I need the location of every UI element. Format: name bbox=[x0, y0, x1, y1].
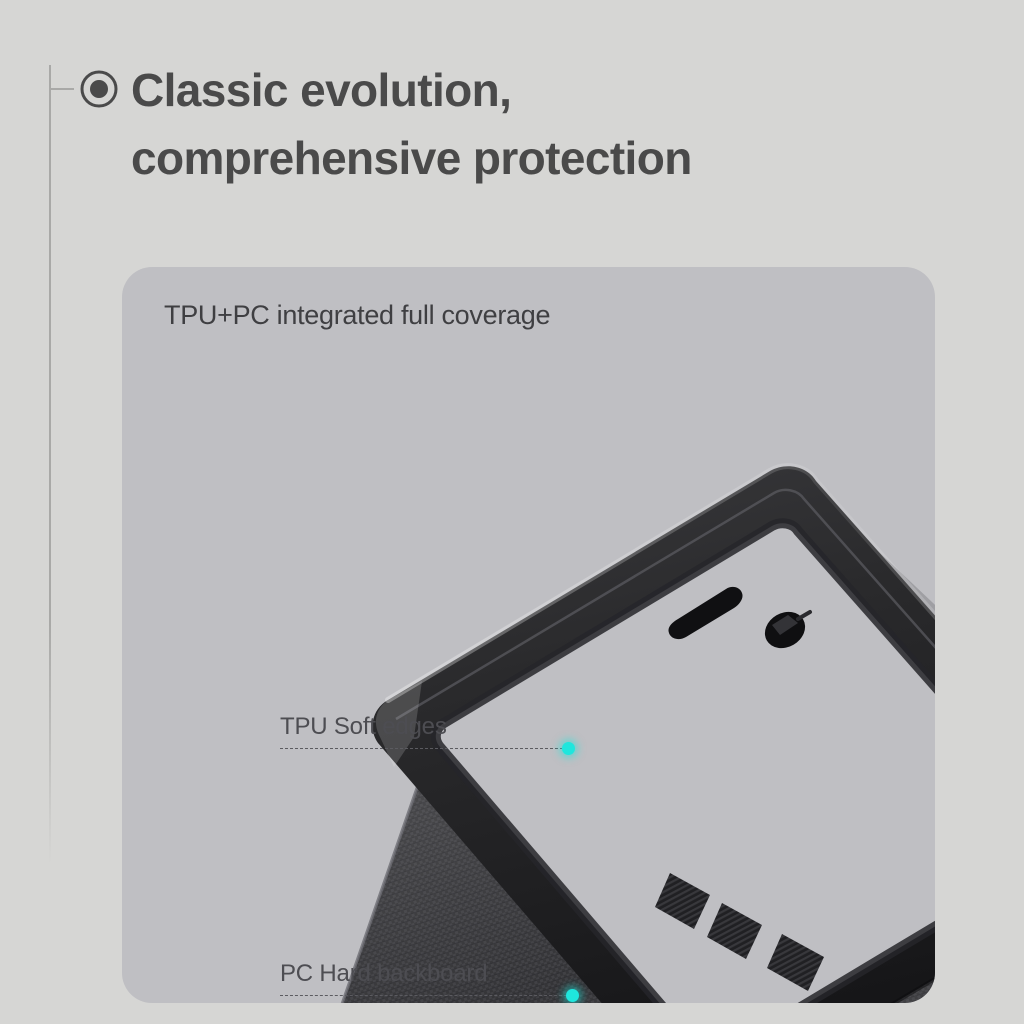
callout-label: TPU Soft edges bbox=[280, 713, 447, 741]
product-card: TPU+PC integrated full coverage TPU Soft… bbox=[122, 267, 935, 1003]
target-ring-icon bbox=[79, 69, 119, 109]
left-rail-tick bbox=[49, 88, 74, 90]
product-image bbox=[122, 267, 935, 1003]
page-title: Classic evolution, comprehensive protect… bbox=[131, 56, 961, 192]
product-feature-page: Classic evolution, comprehensive protect… bbox=[0, 0, 1024, 1024]
left-rail-vertical-line bbox=[49, 65, 51, 865]
callout-leader-line bbox=[280, 995, 572, 996]
callout-marker-dot bbox=[562, 742, 575, 755]
heading-line-2: comprehensive protection bbox=[131, 124, 961, 192]
card-title: TPU+PC integrated full coverage bbox=[164, 300, 550, 331]
callout-leader-line bbox=[280, 748, 568, 749]
callout-label: PC Hard backboard bbox=[280, 960, 487, 988]
callout-marker-dot bbox=[566, 989, 579, 1002]
heading-line-1: Classic evolution, bbox=[131, 56, 961, 124]
